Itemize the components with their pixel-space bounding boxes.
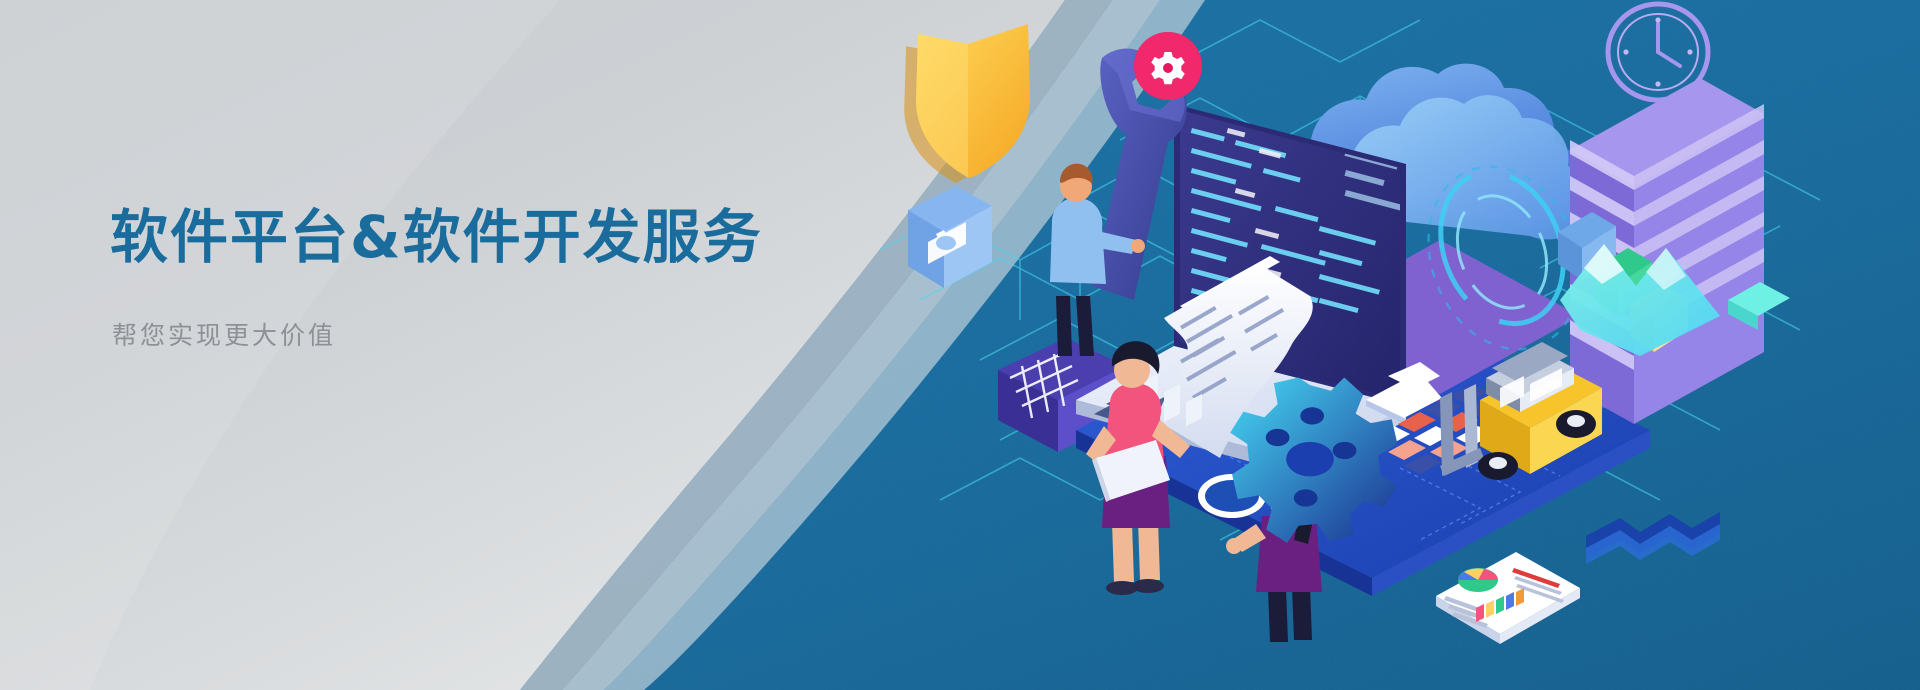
page-title: 软件平台&软件开发服务 xyxy=(110,205,763,270)
banner-text-block: 软件平台&软件开发服务 帮您实现更大价值 xyxy=(110,205,763,352)
gear-badge-icon xyxy=(1134,32,1202,100)
shield-icon xyxy=(904,24,1030,183)
page-subtitle: 帮您实现更大价值 xyxy=(112,316,763,352)
clock-icon xyxy=(1608,4,1708,100)
kanban-board xyxy=(1558,78,1764,424)
news-report-card xyxy=(1436,552,1580,644)
hero-illustration xyxy=(880,0,1920,690)
camera-icon xyxy=(908,186,992,288)
wave-graph xyxy=(1586,512,1720,564)
hero-banner: 软件平台&软件开发服务 帮您实现更大价值 xyxy=(0,0,1920,690)
